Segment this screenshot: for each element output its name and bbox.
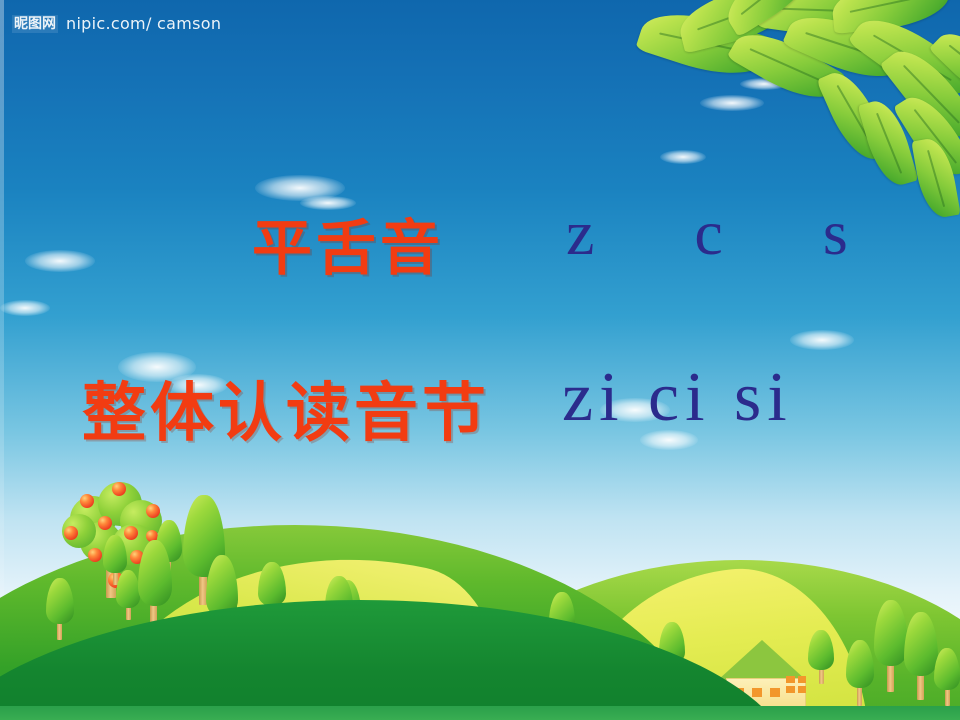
- apple-icon: [98, 516, 112, 530]
- tree-canopy: [258, 562, 286, 606]
- tree-canopy: [934, 648, 960, 690]
- small-tree: [40, 578, 78, 640]
- house-window: [786, 676, 795, 683]
- watermark-logo: 昵图网: [12, 15, 58, 33]
- house-window: [786, 686, 795, 693]
- house-window: [770, 688, 780, 697]
- tree-canopy: [46, 578, 74, 624]
- ground-strip: [0, 706, 960, 720]
- tree-canopy: [138, 540, 172, 606]
- small-tree: [930, 648, 960, 706]
- line2-chinese-term: 整体认读音节: [82, 362, 490, 454]
- house-window: [798, 686, 806, 693]
- presentation-slide: 昵图网 nipic.com/ camson 平舌音 z c s 整体认读音节 z…: [0, 0, 960, 720]
- apple-icon: [64, 526, 78, 540]
- house-roof: [718, 640, 806, 680]
- watermark: 昵图网 nipic.com/ camson: [12, 14, 221, 33]
- apple-icon: [80, 494, 94, 508]
- line2-pinyin: zi ci si: [562, 358, 793, 438]
- apple-icon: [112, 482, 126, 496]
- house-window: [752, 688, 762, 697]
- line1-chinese-term: 平舌音: [252, 200, 444, 287]
- watermark-site: nipic.com/ camson: [66, 14, 221, 33]
- house-window: [798, 676, 806, 683]
- line1-pinyin: z c s: [566, 196, 890, 270]
